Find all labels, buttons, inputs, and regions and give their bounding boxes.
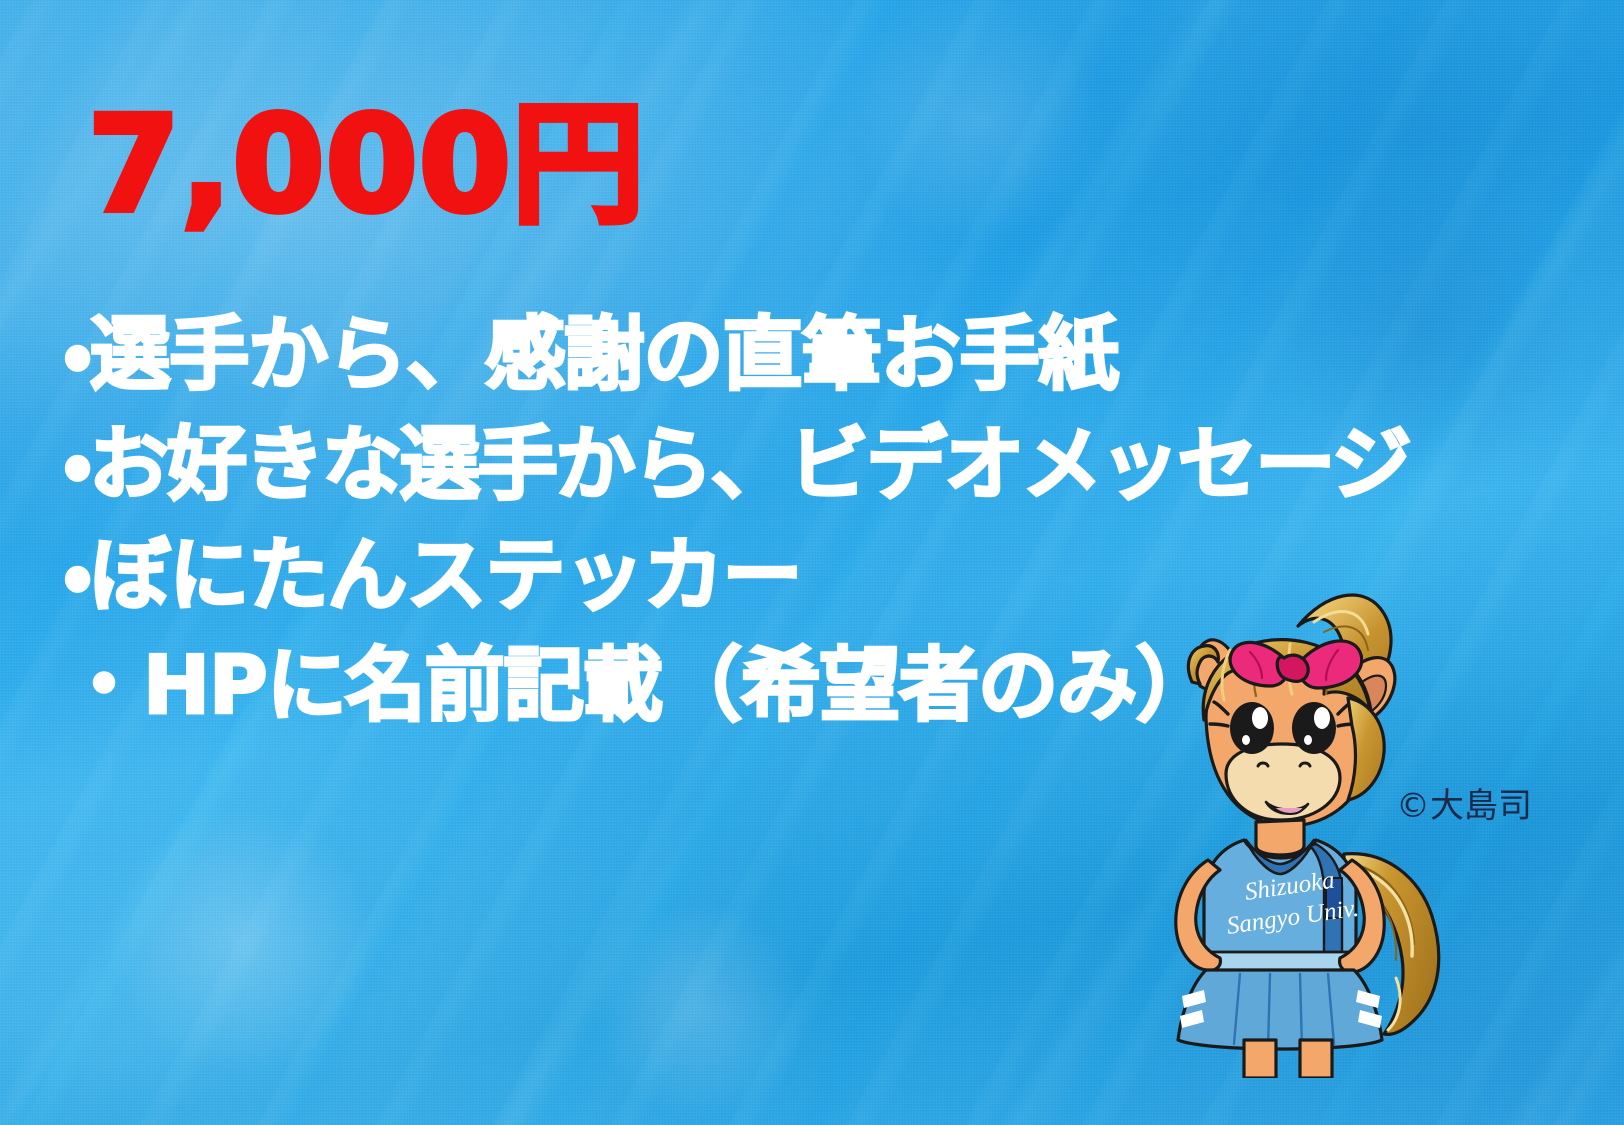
mascot-svg: Shizuoka Sangyo Univ.	[1148, 578, 1478, 1078]
mascot-skirt	[1178, 970, 1382, 1049]
reward-tier-poster: 7,000円 ・選手から、感謝の直筆お手紙 ・お好きな選手から、ビデオメッセージ…	[0, 0, 1624, 1125]
price-headline: 7,000円	[88, 96, 645, 235]
mascot-neck	[1256, 820, 1304, 855]
bonitan-mascot-illustration: Shizuoka Sangyo Univ.	[1148, 578, 1478, 1078]
benefit-item-video-message: ・お好きな選手から、ビデオメッセージ	[64, 410, 1394, 520]
benefit-item-handwritten-letter: ・選手から、感謝の直筆お手紙	[64, 300, 1394, 410]
